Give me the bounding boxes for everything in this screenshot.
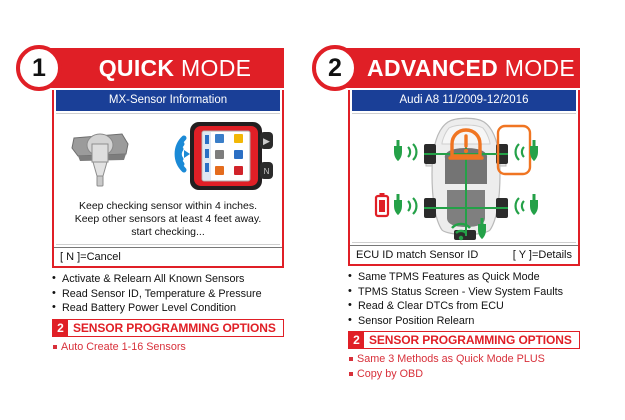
svg-text:N: N: [264, 167, 270, 176]
screen-message-line-1: Keep checking sensor within 4 inches.: [58, 200, 278, 213]
spo-label: SENSOR PROGRAMMING OPTIONS: [68, 320, 283, 336]
advanced-mode-artwork: [352, 114, 576, 242]
quick-mode-screen-message: Keep checking sensor within 4 inches. Ke…: [56, 196, 280, 244]
green-sensor-icon: [516, 194, 538, 215]
quick-mode-device-screen: MX-Sensor Information: [52, 90, 284, 268]
quick-mode-viewport: ▶ N Keep checking sensor within 4 inches…: [56, 113, 280, 245]
advanced-mode-header: 2 ADVANCED MODE: [338, 48, 580, 88]
list-item: Read Battery Power Level Condition: [52, 301, 284, 316]
quick-mode-sensor-programming-options: 2 SENSOR PROGRAMMING OPTIONS: [52, 319, 284, 337]
quick-mode-feature-list: Activate & Relearn All Known Sensors Rea…: [52, 272, 284, 316]
ecu-id-match-label: ECU ID match Sensor ID: [356, 249, 478, 261]
list-item: Auto Create 1-16 Sensors: [52, 340, 284, 355]
list-item: Read Sensor ID, Temperature & Pressure: [52, 287, 284, 302]
step-badge-2: 2: [312, 45, 358, 91]
spo-step-number: 2: [53, 320, 68, 336]
panel-advanced-mode: 2 ADVANCED MODE Audi A8 11/2009-12/2016: [312, 48, 580, 382]
battery-low-icon: [376, 193, 388, 216]
title-light: MODE: [174, 55, 251, 81]
spo-step-number: 2: [349, 332, 364, 348]
green-sensor-icon: [394, 194, 416, 215]
tpms-sensor-icon: [68, 128, 138, 188]
step-badge-1: 1: [16, 45, 62, 91]
quick-mode-subbar: MX-Sensor Information: [56, 90, 280, 111]
rf-waves-icon: [148, 130, 190, 178]
quick-mode-header: 1 QUICK MODE: [42, 48, 284, 88]
tpms-tool-icon: ▶ N: [186, 118, 278, 194]
screen-message-line-2: Keep other sensors at least 4 feet away.: [58, 213, 278, 226]
title-light: MODE: [498, 55, 575, 81]
svg-text:▶: ▶: [263, 136, 270, 146]
list-item: Same TPMS Features as Quick Mode: [348, 270, 580, 285]
spo-label: SENSOR PROGRAMMING OPTIONS: [364, 332, 579, 348]
list-item: Same 3 Methods as Quick Mode PLUS: [348, 352, 580, 367]
key-hint-details[interactable]: [ Y ]=Details: [513, 249, 578, 261]
panel-quick-mode: 1 QUICK MODE MX-Sensor Information: [16, 48, 284, 355]
quick-mode-programming-list: Auto Create 1-16 Sensors: [52, 340, 284, 355]
advanced-mode-key-row[interactable]: ECU ID match Sensor ID [ Y ]=Details: [350, 245, 578, 264]
quick-mode-key-row[interactable]: [ N ]=Cancel: [54, 247, 282, 266]
advanced-mode-device-screen: Audi A8 11/2009-12/2016: [348, 90, 580, 266]
list-item: Read & Clear DTCs from ECU: [348, 299, 580, 314]
green-sensor-icon: [516, 140, 538, 161]
advanced-mode-subbar: Audi A8 11/2009-12/2016: [352, 90, 576, 111]
list-item: Copy by OBD: [348, 367, 580, 382]
advanced-mode-viewport: [352, 113, 576, 243]
title-bold: ADVANCED: [367, 55, 498, 81]
quick-mode-title: QUICK MODE: [75, 55, 252, 82]
title-bold: QUICK: [99, 55, 175, 81]
list-item: TPMS Status Screen - View System Faults: [348, 285, 580, 300]
quick-mode-artwork: ▶ N: [56, 114, 280, 196]
green-sensor-icon: [394, 140, 416, 161]
list-item: Activate & Relearn All Known Sensors: [52, 272, 284, 287]
advanced-mode-title: ADVANCED MODE: [343, 55, 575, 82]
car-top-view-icon: [352, 114, 580, 242]
screen-message-line-3: start checking...: [58, 226, 278, 239]
key-hint-cancel[interactable]: [ N ]=Cancel: [60, 251, 121, 263]
advanced-mode-sensor-programming-options: 2 SENSOR PROGRAMMING OPTIONS: [348, 331, 580, 349]
advanced-mode-feature-list: Same TPMS Features as Quick Mode TPMS St…: [348, 270, 580, 328]
list-item: Sensor Position Relearn: [348, 314, 580, 329]
advanced-mode-programming-list: Same 3 Methods as Quick Mode PLUS Copy b…: [348, 352, 580, 382]
key-hint-right: [276, 251, 282, 263]
